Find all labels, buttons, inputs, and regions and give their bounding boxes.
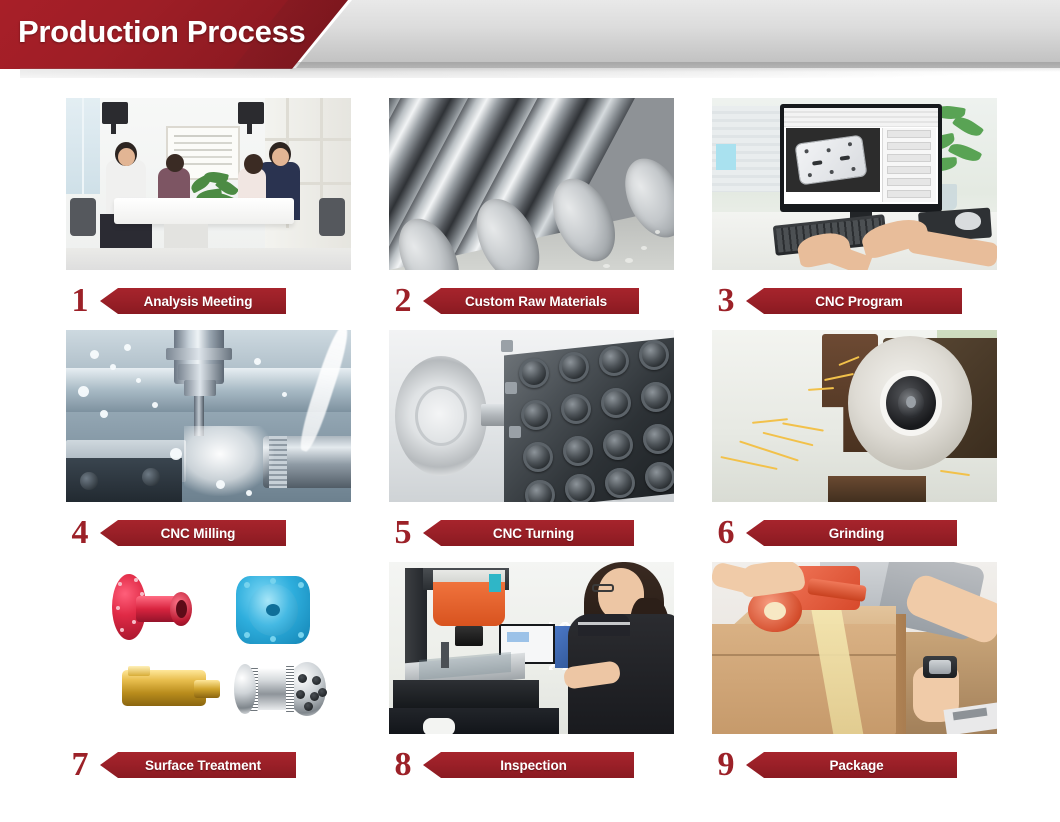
coolant-droplet (170, 448, 182, 460)
step-label-arrow[interactable]: Grinding (746, 520, 957, 546)
tool-socket (639, 340, 669, 370)
shelf-board (265, 138, 351, 141)
safety-glasses (592, 584, 614, 592)
brass-nose (194, 680, 220, 698)
monitor (780, 104, 942, 212)
coolant-droplet (124, 344, 131, 351)
tool-socket (605, 468, 635, 498)
tool-holder (184, 380, 216, 396)
person-face (118, 148, 135, 166)
spark (940, 470, 970, 476)
spark (763, 432, 814, 447)
floor-chip (603, 264, 610, 268)
step-label-arrow[interactable]: CNC Milling (100, 520, 286, 546)
spark (739, 440, 799, 461)
process-step-9: 9 Package (712, 562, 1042, 788)
cad-viewport (786, 128, 880, 192)
process-step-4: 4 CNC Milling (66, 330, 396, 556)
cad-programming-photo (712, 98, 997, 270)
floor-chip (655, 230, 660, 234)
coolant-droplet (152, 402, 158, 408)
spark (782, 422, 824, 431)
step-badge-7: 7 Surface Treatment (66, 742, 396, 788)
tool-socket (559, 352, 589, 382)
step-label: CNC Turning (493, 526, 574, 541)
step-label-arrow[interactable]: Package (746, 752, 957, 778)
tool-socket (561, 394, 591, 424)
step-label: Custom Raw Materials (465, 294, 607, 309)
step-label: Analysis Meeting (144, 294, 253, 309)
tool-socket (643, 424, 673, 454)
measurement-window (507, 632, 529, 642)
carton-edge (712, 654, 896, 656)
coolant-droplet (78, 386, 89, 397)
step-label-arrow[interactable]: CNC Turning (423, 520, 634, 546)
ceiling-speaker (238, 102, 264, 124)
step-label: Inspection (500, 758, 567, 773)
step-badge-3: 3 CNC Program (712, 278, 1042, 324)
steel-round-bars-photo (389, 98, 674, 270)
tool-socket (521, 400, 551, 430)
person-face (272, 148, 289, 166)
cad-toolbar (784, 108, 938, 127)
tool-socket (563, 436, 593, 466)
polo-collar (578, 614, 630, 636)
process-step-3: 3 CNC Program (712, 98, 1042, 324)
process-steps-grid: 1 Analysis Meeting 2 Custom Raw Mate (0, 86, 1060, 816)
floor-chip (625, 258, 633, 263)
stage-fixture (441, 642, 449, 668)
step-number: 7 (66, 748, 94, 782)
office-chair (319, 198, 345, 236)
ceiling-speaker (102, 102, 128, 124)
step-number: 5 (389, 516, 417, 550)
floor-chip (641, 246, 647, 250)
coolant-droplet (110, 364, 116, 370)
spark (720, 456, 777, 470)
carton-taping-photo (712, 562, 997, 734)
coolant-droplet (90, 350, 99, 359)
process-step-1: 1 Analysis Meeting (66, 98, 396, 324)
glove (423, 718, 455, 734)
tool-socket (603, 430, 633, 460)
machine-base (828, 476, 926, 502)
stage-carriage (393, 680, 539, 710)
step-label: Grinding (829, 526, 884, 541)
window-mullion (82, 98, 84, 194)
process-step-2: 2 Custom Raw Materials (389, 98, 719, 324)
step-label-arrow[interactable]: CNC Program (746, 288, 962, 314)
tool-socket (599, 346, 629, 376)
office-meeting-photo (66, 98, 351, 270)
tool-socket (565, 474, 595, 502)
office-chair (70, 198, 96, 236)
collar-stripe (578, 622, 630, 625)
chrome-plated-part (234, 662, 326, 716)
step-number: 8 (389, 748, 417, 782)
coolant-droplet (136, 378, 141, 383)
step-label: Package (829, 758, 883, 773)
turret-bolt (501, 340, 513, 352)
tool-socket (523, 442, 553, 472)
step-badge-1: 1 Analysis Meeting (66, 278, 396, 324)
step-label-arrow[interactable]: Surface Treatment (100, 752, 296, 778)
computer-mouse (955, 212, 981, 230)
coolant-droplet (282, 392, 287, 397)
cad-property-panel (882, 128, 936, 202)
vise-bolt (80, 472, 98, 490)
page-title: Production Process (18, 14, 305, 50)
teal-label (489, 574, 501, 592)
optical-lens (455, 626, 483, 646)
chrome-flange (234, 664, 256, 714)
cnc-turning-photo (389, 330, 674, 502)
step-badge-9: 9 Package (712, 742, 1042, 788)
chuck-ring (415, 386, 467, 446)
vise-bolt (142, 468, 160, 486)
sticky-note (716, 144, 736, 170)
knurled-band (286, 664, 294, 714)
step-number: 3 (712, 284, 740, 318)
step-label: CNC Milling (161, 526, 236, 541)
cmm-inspection-photo (389, 562, 674, 734)
process-step-8: 8 Inspection (389, 562, 719, 788)
process-step-5: 5 CNC Turning (389, 330, 719, 556)
cnc-milling-photo (66, 330, 351, 502)
grinding-wheel-photo (712, 330, 997, 502)
cad-part-model (796, 136, 867, 185)
coolant-droplet (246, 490, 252, 496)
tool-socket (641, 382, 671, 412)
coolant-droplet (100, 410, 108, 418)
step-number: 2 (389, 284, 417, 318)
meeting-table (114, 198, 294, 224)
step-badge-4: 4 CNC Milling (66, 510, 396, 556)
machine-pedestal (389, 708, 559, 734)
tool-socket (519, 358, 549, 388)
spindle-collar (178, 364, 222, 380)
tool-socket (645, 462, 674, 492)
brass-key-flat (128, 666, 150, 676)
monitor-screen (784, 108, 938, 204)
step-label-arrow[interactable]: Inspection (423, 752, 634, 778)
page-header: Production Process (0, 0, 1060, 78)
tool-socket (525, 480, 555, 502)
process-step-6: 6 Grinding (712, 330, 1042, 556)
step-label-arrow[interactable]: Custom Raw Materials (423, 288, 639, 314)
wheel-arbor (906, 396, 916, 408)
coolant-droplet (254, 358, 261, 365)
finished-parts-photo (66, 562, 351, 734)
step-label: Surface Treatment (145, 758, 261, 773)
watch-face (929, 660, 951, 674)
coolant-splash (184, 426, 274, 496)
spindle-collar (166, 348, 232, 360)
person-head (166, 154, 184, 172)
step-badge-5: 5 CNC Turning (389, 510, 719, 556)
person-head (244, 154, 263, 174)
step-badge-8: 8 Inspection (389, 742, 719, 788)
coolant-droplet (216, 480, 225, 489)
step-label: CNC Program (815, 294, 902, 309)
hub-bore (176, 600, 187, 618)
step-number: 4 (66, 516, 94, 550)
header-underglow (20, 68, 1030, 78)
process-step-7: 7 Surface Treatment (66, 562, 396, 788)
step-badge-2: 2 Custom Raw Materials (389, 278, 719, 324)
step-label-arrow[interactable]: Analysis Meeting (100, 288, 286, 314)
cardboard-carton (712, 624, 896, 734)
step-number: 9 (712, 748, 740, 782)
turret-bolt (505, 382, 517, 394)
step-number: 6 (712, 516, 740, 550)
tape-roll-core (764, 602, 786, 620)
step-badge-6: 6 Grinding (712, 510, 1042, 556)
step-number: 1 (66, 284, 94, 318)
plate-center-hole (266, 604, 280, 616)
floor (66, 248, 351, 270)
tool-socket (601, 388, 631, 418)
turret-bolt (509, 426, 521, 438)
